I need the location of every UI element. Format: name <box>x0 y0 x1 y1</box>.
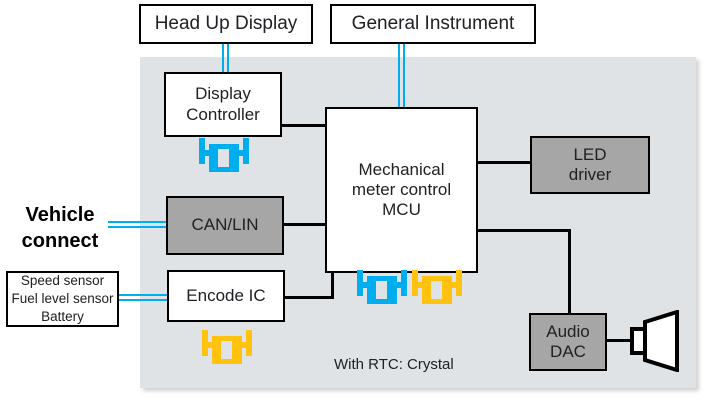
bus-hud-to-display-controller <box>222 42 229 76</box>
block-general-instrument[interactable]: General Instrument <box>330 4 536 44</box>
block-encode-ic[interactable]: Encode IC <box>167 270 285 322</box>
block-label-line-3: MCU <box>382 200 421 220</box>
block-audio-dac[interactable]: Audio DAC <box>529 313 607 371</box>
wire-mcu-to-led-driver <box>477 161 532 164</box>
resonator-icon-mcu <box>410 270 464 310</box>
wire-mcu-to-audio-dac-vertical <box>568 229 571 313</box>
block-label: General Instrument <box>352 13 515 35</box>
block-label-line-2: driver <box>569 165 612 185</box>
block-label-line-1: LED <box>573 145 606 165</box>
bus-vehicle-connect-to-can-lin <box>108 221 170 228</box>
legend-line-1: With RTC: Crystal <box>334 353 534 376</box>
block-label-line-2: meter control <box>352 180 451 200</box>
wire-encode-ic-to-mcu-vertical <box>331 271 334 299</box>
resonator-icon-encode-ic <box>200 330 254 370</box>
wire-display-controller-to-mcu <box>281 124 327 127</box>
block-diagram-canvas: Head Up Display General Instrument Vehic… <box>0 0 709 400</box>
sensor-line-speed: Speed sensor <box>21 272 104 290</box>
wire-can-lin-to-mcu <box>281 223 327 226</box>
block-label-line-2: Controller <box>186 105 260 125</box>
block-mcu[interactable]: Mechanical meter control MCU <box>325 107 478 273</box>
crystal-icon-mcu <box>355 270 409 310</box>
speaker-icon <box>630 310 682 372</box>
block-label: Head Up Display <box>155 13 298 35</box>
block-label: CAN/LIN <box>191 215 258 235</box>
label-vehicle-connect: Vehicle connect <box>8 202 112 254</box>
block-can-lin[interactable]: CAN/LIN <box>166 196 284 255</box>
block-label-line-1: Mechanical <box>359 160 445 180</box>
block-label-line-1: Audio <box>546 322 589 342</box>
legend-rtc: With RTC: Crystal Without RTC : Resonato… <box>334 330 534 400</box>
block-display-controller[interactable]: Display Controller <box>164 72 282 137</box>
sensor-line-battery: Battery <box>41 308 84 326</box>
bus-gi-to-mcu <box>398 42 405 112</box>
block-label-line-2: DAC <box>550 342 586 362</box>
wire-encode-ic-to-mcu-horizontal <box>283 296 334 299</box>
vehicle-connect-line-2: connect <box>8 228 112 254</box>
crystal-icon-display-controller <box>197 138 251 178</box>
block-head-up-display[interactable]: Head Up Display <box>139 4 313 44</box>
block-led-driver[interactable]: LED driver <box>530 136 650 194</box>
bus-sensors-to-encode-ic <box>116 294 171 301</box>
sensor-line-fuel: Fuel level sensor <box>11 290 113 308</box>
block-sensor-list[interactable]: Speed sensor Fuel level sensor Battery <box>6 271 119 327</box>
wire-mcu-to-audio-dac-horizontal <box>477 229 571 232</box>
block-label: Encode IC <box>186 286 265 306</box>
block-label-line-1: Display <box>195 84 251 104</box>
vehicle-connect-line-1: Vehicle <box>8 202 112 228</box>
